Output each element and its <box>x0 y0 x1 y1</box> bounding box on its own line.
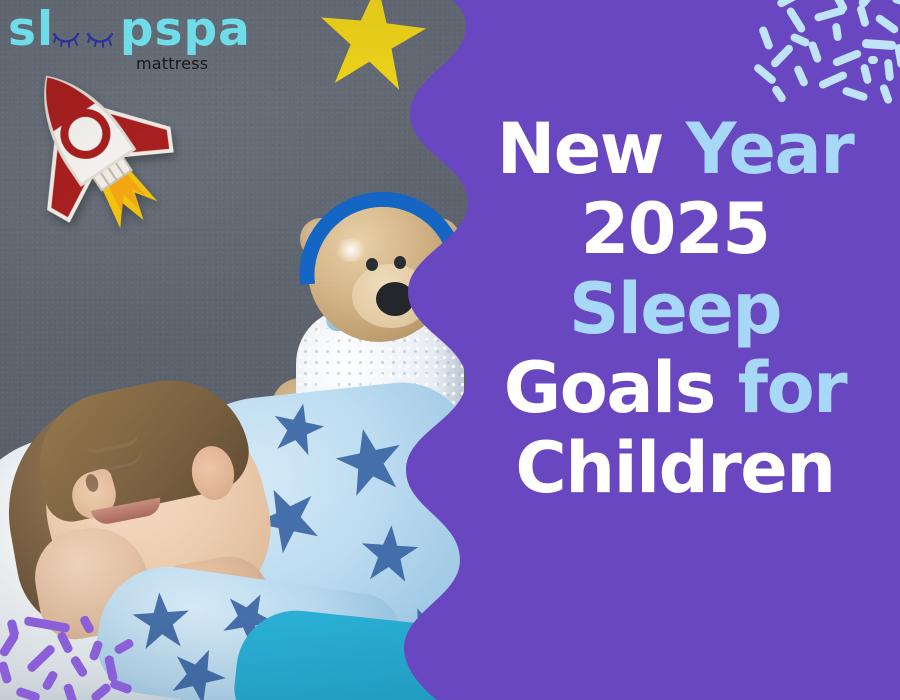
closed-sleeping-eye-icon <box>52 30 118 50</box>
headline-line-3: Sleep <box>470 270 880 350</box>
headline-line-5: Children <box>470 429 880 509</box>
headline-segment-4-0: Children <box>515 427 834 509</box>
logo-word-prefix: sl <box>8 2 54 57</box>
banner-root: New Year2025SleepGoals forChildren sleep… <box>0 0 900 700</box>
headline-segment-0-1: Year <box>686 108 854 190</box>
headline: New Year2025SleepGoals forChildren <box>470 110 880 509</box>
headline-segment-3-1: for <box>738 347 847 429</box>
logo-subtitle: mattress <box>136 54 208 73</box>
headline-segment-2-0: Sleep <box>569 268 781 350</box>
headline-line-2: 2025 <box>470 190 880 270</box>
pajama-star <box>130 589 193 652</box>
sleepspa-logo[interactable]: sleepspa mattress <box>8 6 223 82</box>
logo-word-suffix: pspa <box>120 2 251 57</box>
headline-segment-3-0: Goals <box>504 347 738 429</box>
headline-segment-0-0: New <box>497 108 686 190</box>
pajama-star <box>267 397 330 460</box>
pajama-star <box>329 421 410 502</box>
headline-line-1: New Year <box>470 110 880 190</box>
teddy-nose <box>376 282 414 316</box>
headline-segment-1-0: 2025 <box>581 188 770 270</box>
teddy-astronaut-helmet <box>293 185 466 285</box>
pajama-star <box>161 638 235 700</box>
headline-line-4: Goals for <box>470 349 880 429</box>
logo-wordmark: sleepspa <box>8 6 251 53</box>
pajama-star <box>358 522 421 585</box>
